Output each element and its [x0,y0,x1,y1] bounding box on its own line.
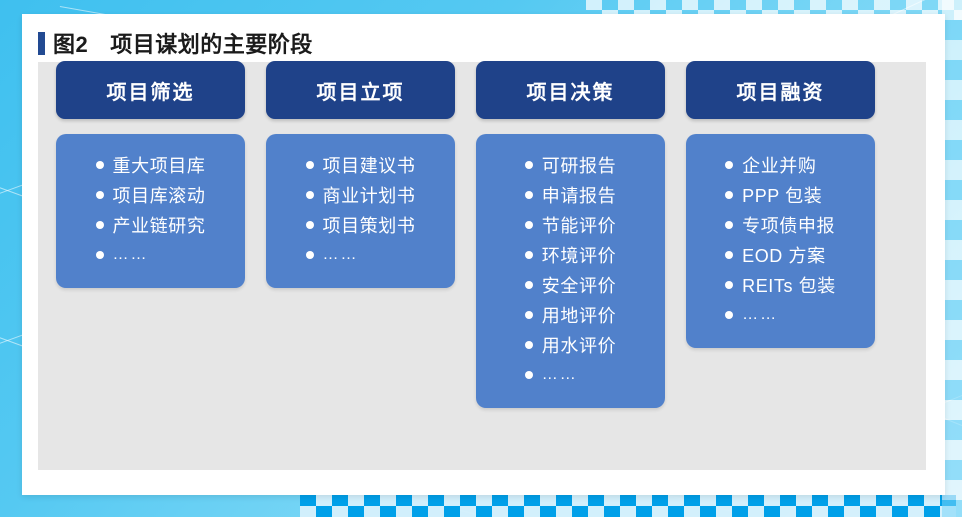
list-item[interactable]: 项目策划书 [306,210,416,240]
decor-checker-cell [604,506,620,517]
list-item[interactable]: 节能评价 [525,210,616,240]
figure-caption: 项目谋划的主要阶段 [110,27,313,59]
stage-body-3: 可研报告 申请报告 节能评价 环境评价 [476,134,665,408]
decor-checker-cell [940,495,956,506]
decor-checker-cell [892,495,908,506]
decor-checker-cell [908,506,924,517]
decor-checker-cell [940,506,956,517]
decor-checker-cell [668,495,684,506]
decor-checker-cell [476,495,492,506]
bullet-icon [725,281,733,289]
bullet-icon [525,281,533,289]
stage-item-list: 企业并购 PPP 包装 专项债申报 EOD 方案 [725,150,836,330]
decor-checker-cell [942,280,962,300]
decor-checker-cell [942,240,962,260]
decor-checker-cell [780,506,796,517]
stage-body-1: 重大项目库 项目库滚动 产业链研究 …… [56,134,245,288]
decor-checker-cell [812,495,828,506]
decor-checker-cell [508,506,524,517]
stage-column-3: 项目决策 可研报告 申请报告 节能评价 [476,61,665,408]
decor-checker-cell [700,495,716,506]
list-item[interactable]: REITs 包装 [725,270,836,300]
decor-checker-cell [748,506,764,517]
bullet-icon [306,161,314,169]
decor-checker-cell [618,0,634,10]
stage-item-list: 可研报告 申请报告 节能评价 环境评价 [525,150,616,390]
list-item-label: …… [742,306,778,324]
list-item-label: 用水评价 [542,332,616,358]
decor-checker-cell [942,460,962,480]
decor-checker-cell [332,506,348,517]
bullet-icon [525,161,533,169]
decor-checker-cell [812,506,828,517]
decor-checker-cell [942,60,962,80]
decor-checker-cell [460,495,476,506]
decor-checker-cell [698,0,714,10]
bullet-icon [525,191,533,199]
decor-checker-cell [508,495,524,506]
decor-checker-cell [666,0,682,10]
decor-checker-cell [540,495,556,506]
bullet-icon [725,221,733,229]
decor-checker-cell [942,160,962,180]
decor-checker-cell [380,495,396,506]
decor-checker-cell [556,495,572,506]
decor-checker-cell [650,0,666,10]
decor-checker-cell [444,506,460,517]
decor-checker-bottom [300,495,962,517]
list-item-label: 专项债申报 [742,212,835,238]
decor-checker-cell [588,495,604,506]
decor-checker-cell [858,0,874,10]
decor-checker-cell [842,0,858,10]
stage-header-label: 项目决策 [527,76,615,105]
bullet-icon [306,191,314,199]
list-item[interactable]: 项目库滚动 [96,180,206,210]
decor-checker-cell [942,420,962,440]
decor-checker-cell [444,495,460,506]
list-item-label: EOD 方案 [742,242,826,268]
stage-columns: 项目筛选 重大项目库 项目库滚动 产业 [56,61,912,408]
list-item-label: 项目策划书 [323,212,416,238]
list-item[interactable]: …… [725,300,836,330]
list-item[interactable]: …… [96,240,206,270]
list-item[interactable]: EOD 方案 [725,240,836,270]
decor-checker-cell [860,506,876,517]
decor-checker-cell [636,506,652,517]
decor-checker-cell [588,506,604,517]
decor-checker-right [942,0,962,517]
decor-checker-cell [572,495,588,506]
decor-checker-cell [300,506,316,517]
decor-checker-cell [540,506,556,517]
list-item-label: 产业链研究 [113,212,206,238]
decor-checker-cell [412,506,428,517]
decor-checker-cell [942,200,962,220]
decor-checker-cell [942,320,962,340]
decor-checker-cell [778,0,794,10]
list-item[interactable]: …… [306,240,416,270]
decor-checker-cell [636,495,652,506]
decor-checker-cell [492,495,508,506]
stage-header-4[interactable]: 项目融资 [686,61,875,119]
list-item[interactable]: 专项债申报 [725,210,836,240]
stage-header-label: 项目筛选 [107,76,195,105]
bullet-icon [725,311,733,319]
bullet-icon [725,161,733,169]
decor-checker-cell [942,80,962,100]
figure-number: 图2 [53,27,88,59]
decor-checker-cell [924,495,940,506]
decor-checker-cell [942,500,962,517]
stage-column-1: 项目筛选 重大项目库 项目库滚动 产业 [56,61,245,288]
stage-body-2: 项目建议书 商业计划书 项目策划书 …… [266,134,455,288]
bullet-icon [96,161,104,169]
decor-checker-cell [942,20,962,40]
decor-checker-cell [572,506,588,517]
list-item[interactable]: 可研报告 [525,150,616,180]
decor-checker-cell [396,506,412,517]
stage-item-list: 重大项目库 项目库滚动 产业链研究 …… [96,150,206,270]
decor-checker-cell [954,10,962,20]
list-item-label: 节能评价 [542,212,616,238]
bullet-icon [96,251,104,259]
decor-checker-cell [732,495,748,506]
decor-checker-cell [890,0,906,10]
list-item-label: 环境评价 [542,242,616,268]
decor-checker-cell [380,506,396,517]
stage-body-4: 企业并购 PPP 包装 专项债申报 EOD 方案 [686,134,875,348]
list-item[interactable]: 商业计划书 [306,180,416,210]
list-item[interactable]: 产业链研究 [96,210,206,240]
decor-checker-cell [892,506,908,517]
list-item[interactable]: 申请报告 [525,180,616,210]
stage-header-1[interactable]: 项目筛选 [56,61,245,119]
decor-checker-cell [828,506,844,517]
stage-header-2[interactable]: 项目立项 [266,61,455,119]
decor-checker-cell [364,495,380,506]
list-item-label: 企业并购 [742,152,816,178]
figure-title: 图2 项目谋划的主要阶段 [38,27,313,59]
decor-checker-cell [586,0,602,10]
decor-checker-cell [860,495,876,506]
decor-checker-cell [796,495,812,506]
list-item-label: REITs 包装 [742,272,836,298]
decor-checker-cell [942,440,962,460]
decor-checker-cell [942,220,962,240]
decor-checker-cell [700,506,716,517]
bullet-icon [725,191,733,199]
decor-checker-cell [954,0,962,10]
bullet-icon [525,341,533,349]
bullet-icon [525,371,533,379]
decor-checker-cell [428,506,444,517]
decor-checker-cell [876,506,892,517]
list-item-label: 用地评价 [542,302,616,328]
decor-checker-cell [942,360,962,380]
decor-checker-cell [826,0,842,10]
decor-checker-cell [942,400,962,420]
title-marker-bar [38,32,45,55]
decor-checker-cell [476,506,492,517]
decor-checker-cell [942,120,962,140]
decor-checker-cell [762,0,778,10]
decor-checker-cell [748,495,764,506]
stage-header-label: 项目融资 [737,76,825,105]
decor-checker-cell [556,506,572,517]
decor-checker-cell [668,506,684,517]
decor-checker-cell [620,506,636,517]
decor-checker-cell [300,495,316,506]
list-item[interactable]: 重大项目库 [96,150,206,180]
decor-checker-cell [942,40,962,60]
decor-checker-cell [604,495,620,506]
decor-checker-cell [524,495,540,506]
decor-checker-cell [524,506,540,517]
list-item-label: 重大项目库 [113,152,206,178]
decor-checker-cell [316,506,332,517]
bullet-icon [525,251,533,259]
decor-checker-cell [874,0,890,10]
decor-checker-cell [942,180,962,200]
list-item[interactable]: 环境评价 [525,240,616,270]
bullet-icon [306,221,314,229]
decor-checker-cell [908,495,924,506]
decor-checker-cell [348,495,364,506]
decor-checker-cell [732,506,748,517]
decor-checker-cell [348,506,364,517]
decor-checker-cell [906,0,922,10]
decor-checker-cell [714,0,730,10]
decor-checker-cell [828,495,844,506]
decor-checker-cell [684,506,700,517]
decor-checker-cell [460,506,476,517]
decor-checker-cell [942,260,962,280]
list-item-label: 项目库滚动 [113,182,206,208]
bullet-icon [96,221,104,229]
decor-checker-cell [634,0,650,10]
bullet-icon [525,221,533,229]
decor-checker-cell [942,340,962,360]
list-item[interactable]: 用地评价 [525,300,616,330]
list-item-label: 安全评价 [542,272,616,298]
list-item[interactable]: 用水评价 [525,330,616,360]
decor-checker-cell [428,495,444,506]
decor-checker-cell [942,300,962,320]
list-item-label: …… [113,246,149,264]
decor-checker-cell [746,0,762,10]
decor-checker-cell [938,0,954,10]
bullet-icon [525,311,533,319]
list-item[interactable]: 企业并购 [725,150,836,180]
list-item-label: …… [542,366,578,384]
decor-checker-cell [780,495,796,506]
decor-checker-cell [364,506,380,517]
bullet-icon [725,251,733,259]
decor-checker-cell [396,495,412,506]
decor-checker-cell [942,140,962,160]
list-item-label: 申请报告 [542,182,616,208]
decor-checker-cell [764,495,780,506]
decor-checker-cell [924,506,940,517]
stage-header-label: 项目立项 [317,76,405,105]
bullet-icon [96,191,104,199]
list-item-label: PPP 包装 [742,182,822,208]
list-item[interactable]: 项目建议书 [306,150,416,180]
decor-checker-cell [942,0,962,20]
decor-checker-cell [684,495,700,506]
slide-canvas: 图2 项目谋划的主要阶段 项目筛选 重大项目库 [0,0,962,517]
bullet-icon [306,251,314,259]
decor-checker-cell [652,506,668,517]
list-item[interactable]: 安全评价 [525,270,616,300]
decor-checker-cell [332,495,348,506]
decor-checker-cell [730,0,746,10]
list-item-label: 可研报告 [542,152,616,178]
decor-checker-cell [796,506,812,517]
stage-item-list: 项目建议书 商业计划书 项目策划书 …… [306,150,416,270]
decor-checker-cell [922,0,938,10]
decor-checker-cell [942,100,962,120]
decor-checker-cell [682,0,698,10]
decor-checker-cell [844,495,860,506]
list-item[interactable]: PPP 包装 [725,180,836,210]
decor-checker-cell [810,0,826,10]
list-item[interactable]: …… [525,360,616,390]
decor-checker-cell [602,0,618,10]
decor-checker-cell [794,0,810,10]
decor-checker-cell [844,506,860,517]
decor-checker-cell [412,495,428,506]
decor-checker-cell [492,506,508,517]
decor-checker-cell [316,495,332,506]
stage-column-4: 项目融资 企业并购 PPP 包装 专项 [686,61,875,348]
decor-checker-cell [764,506,780,517]
decor-checker-cell [942,480,962,500]
list-item-label: 项目建议书 [323,152,416,178]
decor-checker-cell [652,495,668,506]
decor-checker-cell [716,506,732,517]
decor-checker-cell [942,380,962,400]
content-card: 图2 项目谋划的主要阶段 项目筛选 重大项目库 [22,14,945,495]
decor-checker-cell [716,495,732,506]
list-item-label: …… [323,246,359,264]
decor-checker-cell [876,495,892,506]
list-item-label: 商业计划书 [323,182,416,208]
stage-column-2: 项目立项 项目建议书 商业计划书 项目 [266,61,455,288]
stage-header-3[interactable]: 项目决策 [476,61,665,119]
decor-checker-cell [620,495,636,506]
